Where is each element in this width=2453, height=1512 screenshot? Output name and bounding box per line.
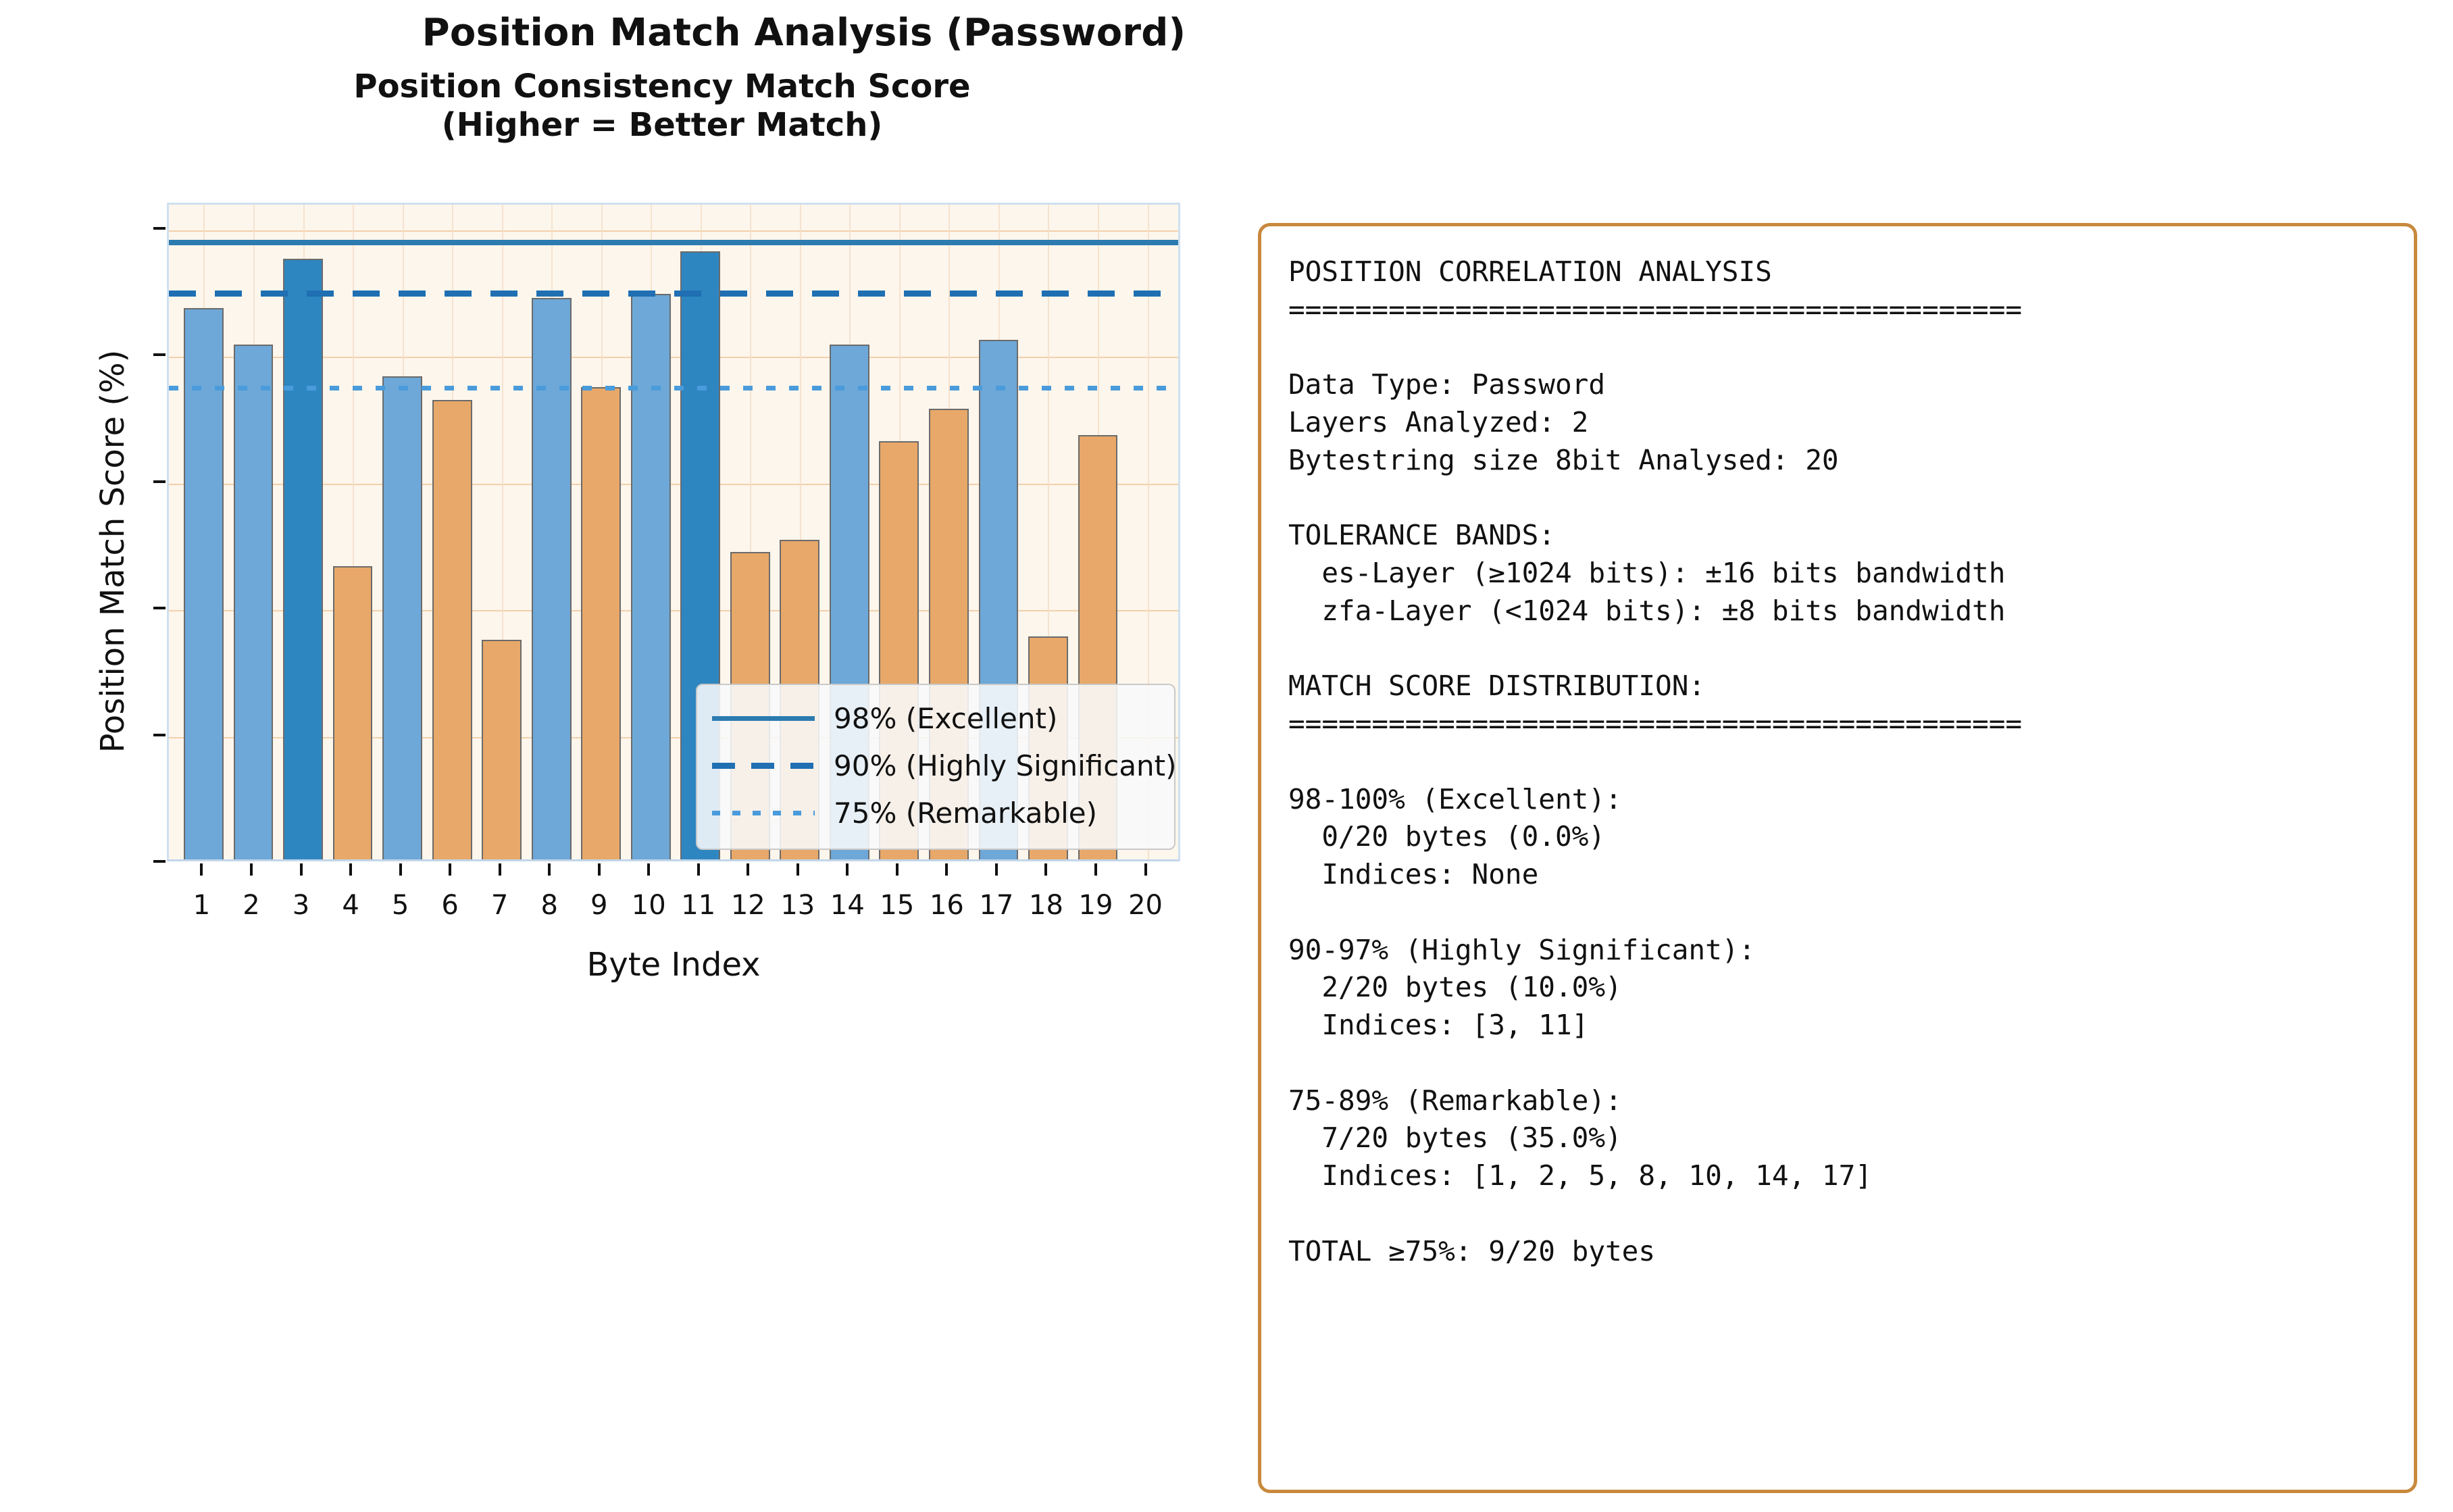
x-tick-mark-4 (349, 863, 352, 876)
chart-legend: 98% (Excellent)90% (Highly Significant)7… (696, 684, 1175, 850)
x-axis-label: Byte Index (167, 946, 1180, 984)
bar-byte-7[interactable] (482, 640, 522, 859)
y-tick-mark-100 (153, 227, 166, 230)
bar-byte-1[interactable] (184, 308, 224, 859)
legend-item-dotted[interactable]: 75% (Remarkable) (712, 789, 1159, 836)
x-tick-mark-1 (200, 863, 203, 876)
x-tick-label-20: 20 (1115, 890, 1176, 921)
legend-label: 90% (Highly Significant) (834, 749, 1177, 782)
axes-title: Position Consistency Match Score (Higher… (108, 68, 1216, 144)
bar-byte-4[interactable] (333, 566, 373, 859)
x-tick-mark-6 (449, 863, 451, 876)
x-tick-mark-13 (796, 863, 799, 876)
position-correlation-report-panel: POSITION CORRELATION ANALYSIS ==========… (1258, 223, 2417, 1493)
threshold-line-90 (169, 291, 1178, 297)
y-tick-mark-60 (153, 480, 166, 483)
y-axis-label: Position Match Score (%) (94, 247, 132, 855)
x-tick-mark-2 (250, 863, 253, 876)
x-tick-mark-19 (1094, 863, 1097, 876)
legend-line-solid-icon (712, 716, 815, 721)
bar-byte-6[interactable] (432, 400, 472, 859)
legend-label: 75% (Remarkable) (834, 797, 1097, 830)
gridline-horizontal (169, 230, 1178, 232)
legend-item-dashed[interactable]: 90% (Highly Significant) (712, 742, 1159, 789)
legend-line-dotted-icon (712, 811, 815, 815)
threshold-line-98 (169, 240, 1178, 245)
x-tick-mark-16 (945, 863, 948, 876)
axes-title-line-1: Position Consistency Match Score (108, 68, 1216, 106)
threshold-line-75 (169, 386, 1178, 390)
x-tick-mark-3 (300, 863, 303, 876)
report-text: POSITION CORRELATION ANALYSIS ==========… (1288, 253, 2391, 1270)
y-tick-mark-0 (153, 860, 166, 863)
x-tick-mark-15 (896, 863, 899, 876)
axes-title-line-2: (Higher = Better Match) (108, 106, 1216, 145)
y-tick-mark-20 (153, 734, 166, 736)
x-tick-mark-5 (399, 863, 402, 876)
bar-byte-3[interactable] (283, 259, 323, 859)
x-tick-mark-17 (995, 863, 998, 876)
x-tick-mark-10 (647, 863, 650, 876)
legend-item-solid[interactable]: 98% (Excellent) (712, 695, 1159, 742)
x-tick-mark-20 (1144, 863, 1147, 876)
bar-byte-2[interactable] (234, 345, 274, 859)
y-tick-mark-80 (153, 353, 166, 356)
legend-line-dashed-icon (712, 763, 815, 769)
x-tick-mark-18 (1044, 863, 1047, 876)
x-tick-mark-8 (548, 863, 551, 876)
bar-chart: Position Consistency Match Score (Higher… (0, 0, 1236, 1013)
bar-byte-5[interactable] (382, 376, 422, 859)
x-tick-mark-7 (499, 863, 501, 876)
bar-byte-10[interactable] (631, 294, 671, 859)
x-tick-mark-12 (747, 863, 749, 876)
x-tick-mark-14 (846, 863, 849, 876)
y-tick-mark-40 (153, 607, 166, 609)
legend-label: 98% (Excellent) (834, 702, 1057, 735)
bar-byte-8[interactable] (532, 298, 572, 859)
bar-byte-9[interactable] (581, 387, 621, 859)
x-tick-mark-9 (598, 863, 601, 876)
x-tick-mark-11 (697, 863, 700, 876)
